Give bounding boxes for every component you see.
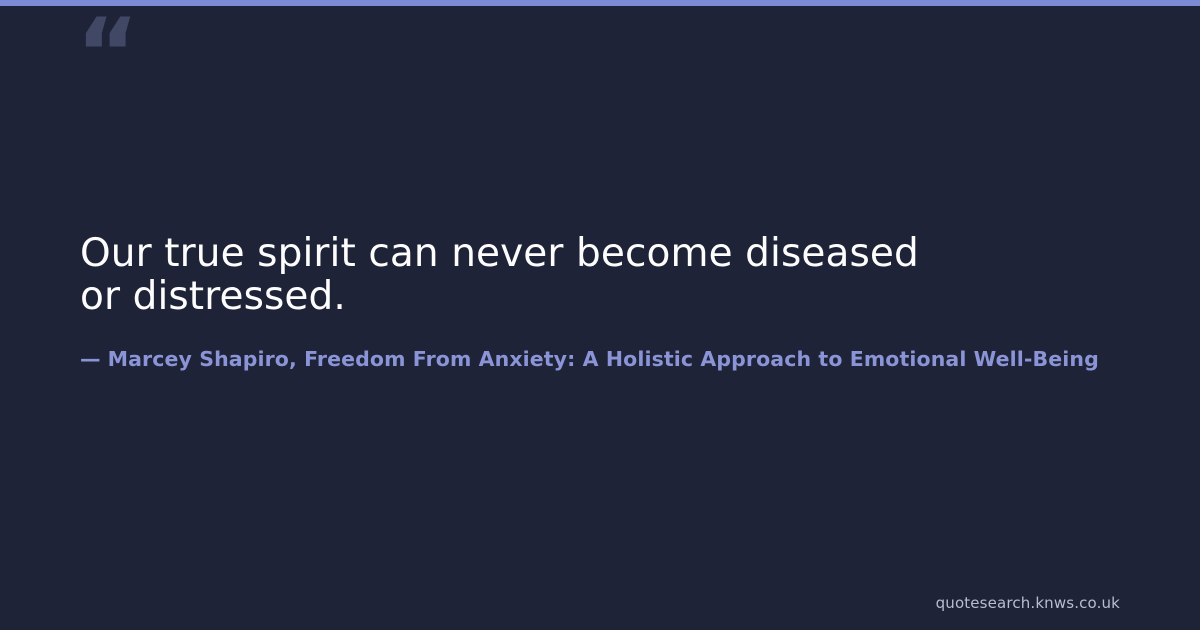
quote-text: Our true spirit can never become disease…	[80, 232, 960, 318]
attribution-line: —Marcey Shapiro, Freedom From Anxiety: A…	[80, 345, 1099, 373]
quote-block: Our true spirit can never become disease…	[80, 232, 1120, 318]
opening-quote-icon: “	[76, 6, 137, 102]
top-accent-bar	[0, 0, 1200, 6]
attribution-dash: —	[80, 347, 101, 371]
source-url: quotesearch.knws.co.uk	[936, 593, 1120, 613]
quote-card: “ Our true spirit can never become disea…	[0, 0, 1200, 630]
attribution-source: Marcey Shapiro, Freedom From Anxiety: A …	[108, 347, 1099, 371]
attribution: —Marcey Shapiro, Freedom From Anxiety: A…	[80, 345, 1200, 375]
